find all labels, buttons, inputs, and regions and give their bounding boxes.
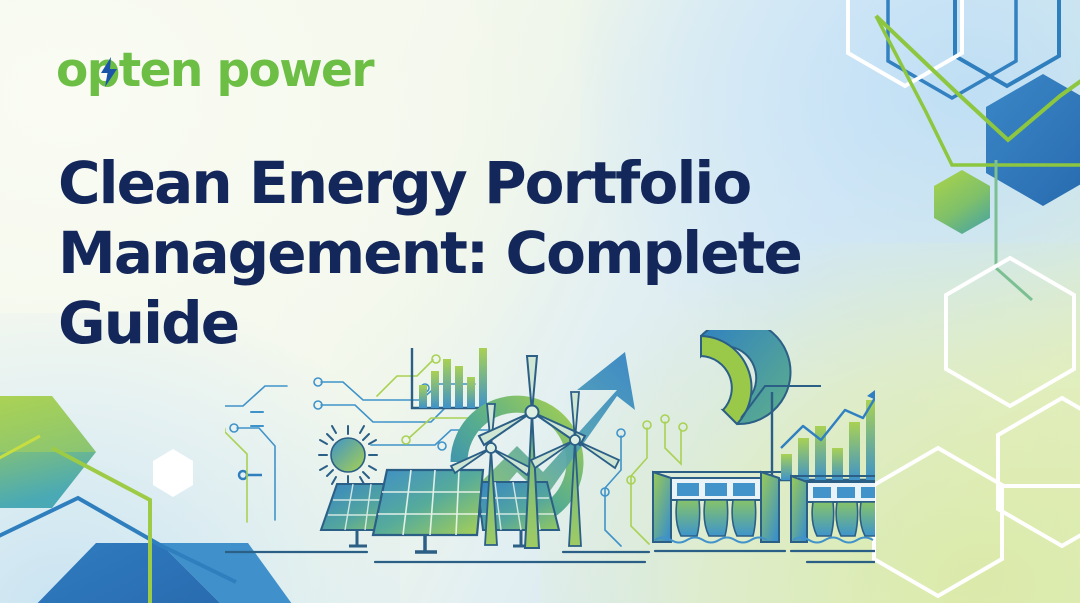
lightning-bolt-icon — [99, 57, 119, 87]
ground-line — [225, 551, 875, 562]
logo-mark: opten power — [56, 42, 373, 100]
hydro-dam-icon — [649, 472, 875, 543]
bar-chart-icon — [412, 348, 487, 408]
donut-chart-icon — [633, 330, 790, 491]
sun-icon — [319, 426, 377, 484]
page-title: Clean Energy Portfolio Management: Compl… — [58, 148, 918, 358]
circuit-trace-green-left-icon — [225, 426, 247, 522]
circuit-trace-far-left-icon — [225, 386, 287, 520]
solar-panel-icon — [321, 470, 559, 552]
growth-bar-chart-icon — [772, 384, 875, 480]
logo[interactable]: opten power — [56, 42, 373, 100]
circuit-trace-mid-icon — [601, 429, 625, 546]
clean-energy-illustration — [225, 330, 875, 575]
dash-marks-icon — [251, 412, 263, 426]
banner: opten power Clean Energy Portfolio Manag… — [0, 0, 1080, 603]
